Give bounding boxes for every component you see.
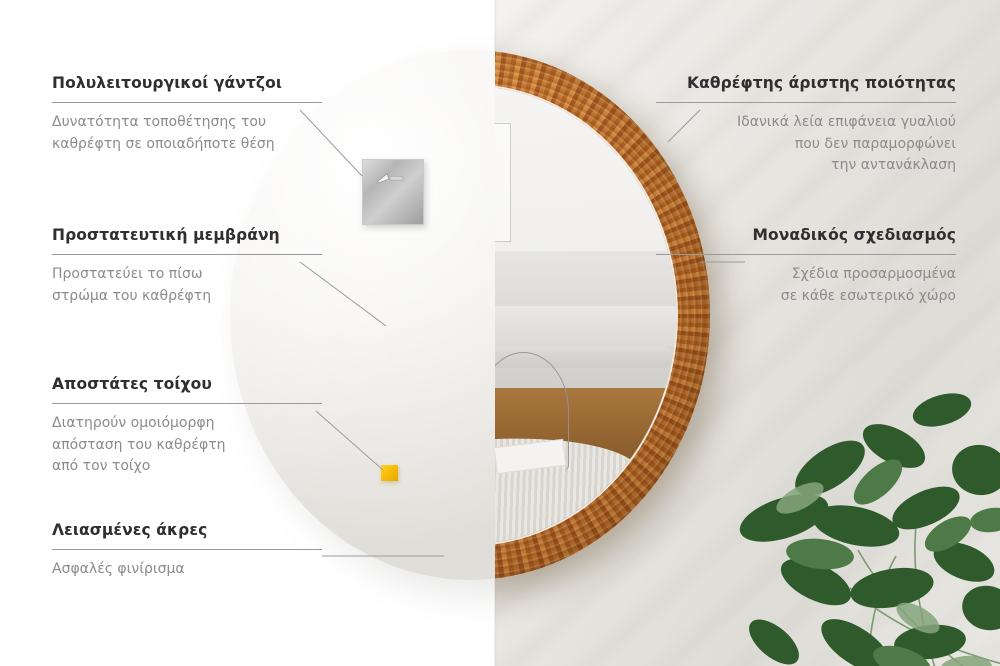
callout-design-title: Μοναδικός σχεδιασμός — [656, 226, 956, 245]
callout-spacers: Αποστάτες τοίχου Διατηρούν ομοιόμορφηαπό… — [52, 375, 322, 477]
callout-design-body: Σχέδια προσαρμοσμένασε κάθε εσωτερικό χώ… — [656, 264, 956, 307]
callout-edges-title: Λειασμένες άκρες — [52, 521, 322, 540]
sofa-backrest — [495, 306, 676, 346]
callout-edges-body: Ασφαλές φινίρισμα — [52, 559, 322, 580]
wall-spacer — [381, 465, 398, 481]
callout-hooks-title: Πολυλειτουργικοί γάντζοι — [52, 74, 322, 93]
framed-line-art — [495, 123, 511, 242]
callout-quality: Καθρέφτης άριστης ποιότητας Ιδανικά λεία… — [656, 74, 956, 176]
callout-spacers-rule — [52, 403, 322, 404]
callout-quality-rule — [656, 102, 956, 103]
callout-spacers-body: Διατηρούν ομοιόμορφηαπόσταση του καθρέφτ… — [52, 413, 322, 477]
hook-plate — [362, 159, 424, 225]
callout-design: Μοναδικός σχεδιασμός Σχέδια προσαρμοσμέν… — [656, 226, 956, 307]
callout-membrane-title: Προστατευτική μεμβράνη — [52, 226, 322, 245]
foliage-icon — [680, 350, 1000, 666]
callout-design-rule — [656, 254, 956, 255]
callout-hooks: Πολυλειτουργικοί γάντζοι Δυνατότητα τοπο… — [52, 74, 322, 155]
callout-spacers-title: Αποστάτες τοίχου — [52, 375, 322, 394]
mirror-glass — [495, 86, 676, 544]
hanging-hook-icon — [376, 173, 410, 184]
infographic-stage: Πολυλειτουργικοί γάντζοι Δυνατότητα τοπο… — [0, 0, 1000, 666]
line-art-face-icon — [495, 124, 510, 241]
callout-membrane-body: Προστατεύει το πίσωστρώμα του καθρέφτη — [52, 264, 322, 307]
callout-edges: Λειασμένες άκρες Ασφαλές φινίρισμα — [52, 521, 322, 581]
callout-membrane-rule — [52, 254, 322, 255]
callout-edges-rule — [52, 549, 322, 550]
callout-hooks-rule — [52, 102, 322, 103]
callout-quality-title: Καθρέφτης άριστης ποιότητας — [656, 74, 956, 93]
callout-membrane: Προστατευτική μεμβράνη Προστατεύει το πί… — [52, 226, 322, 307]
callout-hooks-body: Δυνατότητα τοποθέτησης τουκαθρέφτη σε οπ… — [52, 112, 322, 155]
green-foliage-branch — [680, 350, 1000, 666]
callout-quality-body: Ιδανικά λεία επιφάνεια γυαλιούπου δεν πα… — [656, 112, 956, 176]
